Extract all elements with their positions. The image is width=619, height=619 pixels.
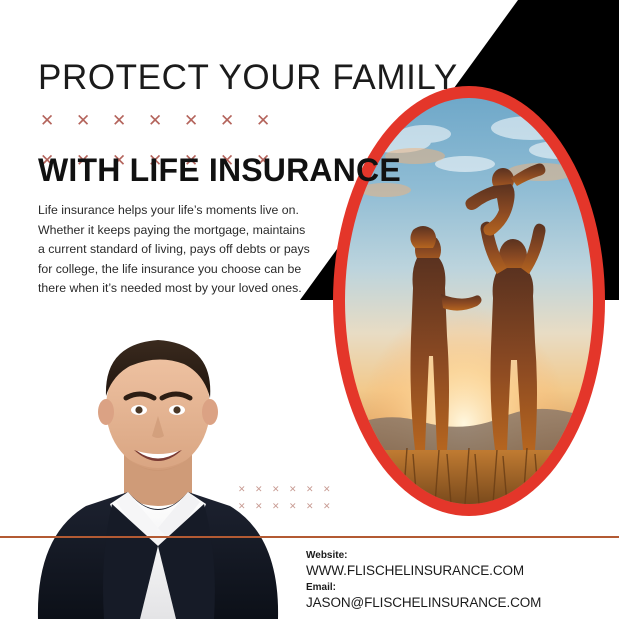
headline-secondary: WITH LIFE INSURANCE	[38, 152, 401, 189]
x-mark: ✕	[184, 100, 220, 140]
website-label: Website:	[306, 549, 541, 562]
footer-divider	[0, 536, 619, 538]
insurance-poster: PROTECT YOUR FAMILY ✕ ✕ ✕ ✕ ✕ ✕ ✕ ✕ ✕ ✕ …	[0, 0, 619, 619]
email-label: Email:	[306, 581, 541, 594]
x-mark: ✕	[306, 481, 323, 498]
x-mark: ✕	[148, 100, 184, 140]
email-value[interactable]: JASON@FLISCHELINSURANCE.COM	[306, 594, 541, 611]
agent-portrait	[8, 300, 308, 619]
body-paragraph: Life insurance helps your life’s moments…	[38, 201, 310, 299]
x-mark: ✕	[306, 498, 323, 515]
agent-portrait-illustration	[8, 300, 308, 619]
x-mark: ✕	[40, 100, 76, 140]
footer-contact: Website: WWW.FLISCHELINSURANCE.COM Email…	[306, 549, 541, 611]
email-block: Email: JASON@FLISCHELINSURANCE.COM	[306, 581, 541, 611]
x-mark: ✕	[112, 100, 148, 140]
website-block: Website: WWW.FLISCHELINSURANCE.COM	[306, 549, 541, 579]
x-mark: ✕	[76, 100, 112, 140]
website-value[interactable]: WWW.FLISCHELINSURANCE.COM	[306, 562, 541, 579]
x-mark: ✕	[256, 100, 292, 140]
x-mark: ✕	[220, 100, 256, 140]
headline-primary: PROTECT YOUR FAMILY	[38, 58, 458, 98]
